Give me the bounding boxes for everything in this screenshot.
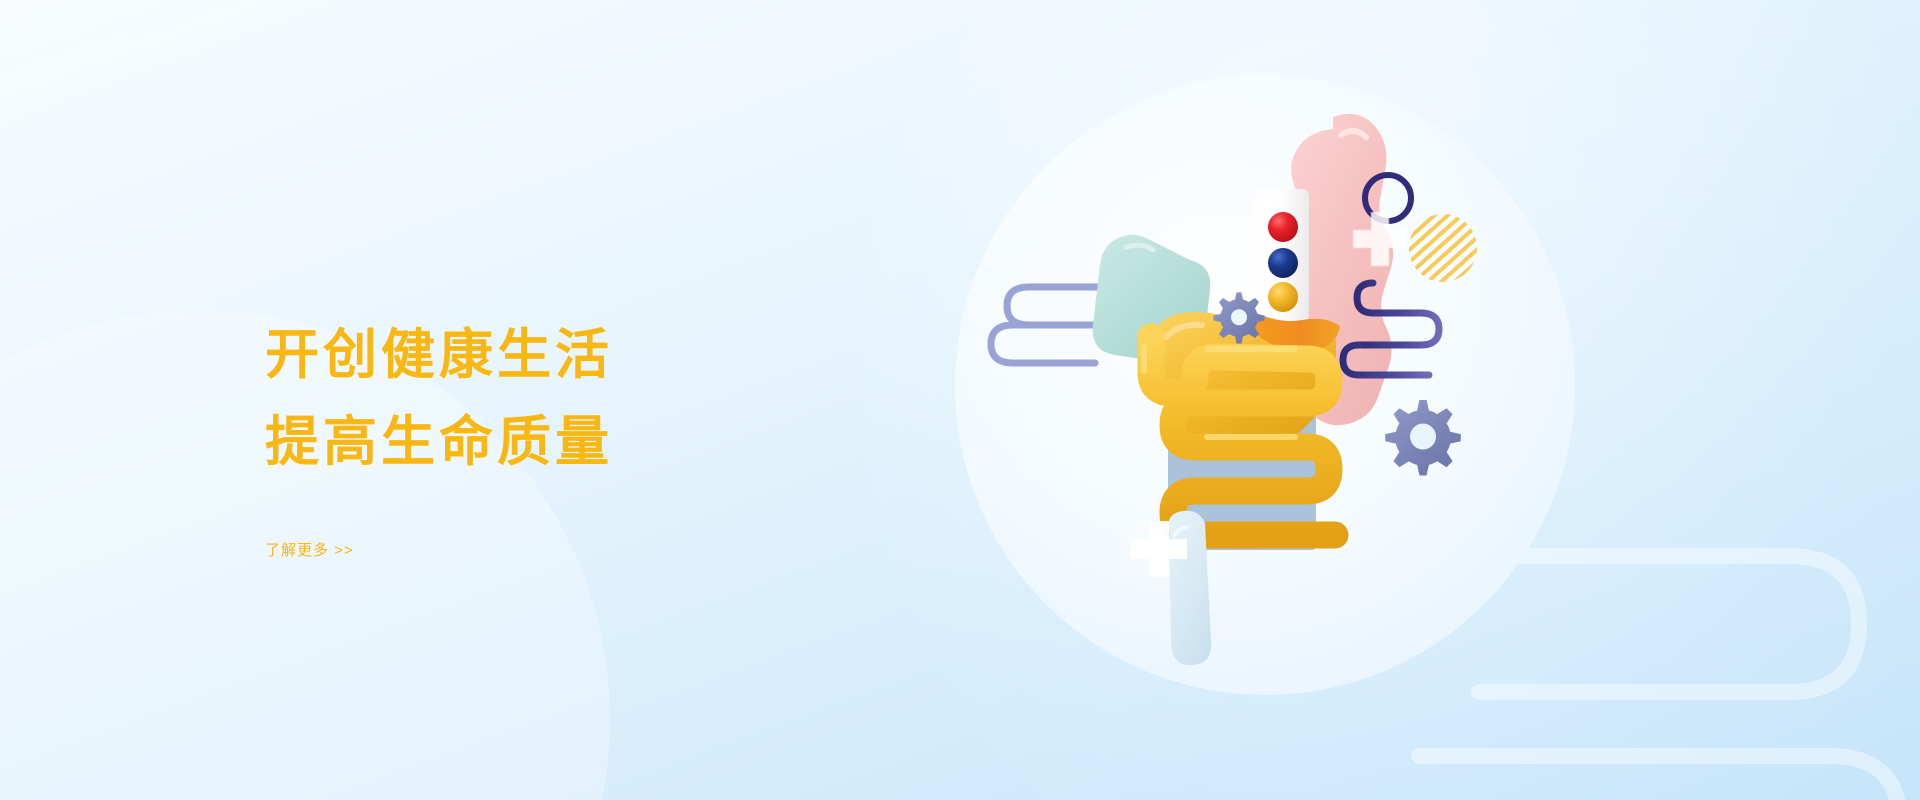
headline-line-2: 提高生命质量 xyxy=(265,399,885,486)
yellow-striped-circle xyxy=(1405,210,1483,288)
headline-line-1: 开创健康生活 xyxy=(265,312,885,399)
learn-more-link[interactable]: 了解更多 >> xyxy=(265,539,354,560)
hero-copy: 开创健康生活 提高生命质量 了解更多 >> xyxy=(265,312,885,560)
large-gear-icon xyxy=(1385,400,1461,476)
small-gear-icon xyxy=(1213,292,1264,343)
digestive-system-illustration xyxy=(955,75,1575,695)
yellow-pill-ball xyxy=(1268,282,1298,312)
hero-banner: 开创健康生活 提高生命质量 了解更多 >> xyxy=(0,0,1920,800)
navy-pill-ball xyxy=(1268,248,1298,278)
ice-blue-bladder xyxy=(1169,511,1211,665)
red-pill-ball xyxy=(1268,212,1298,242)
